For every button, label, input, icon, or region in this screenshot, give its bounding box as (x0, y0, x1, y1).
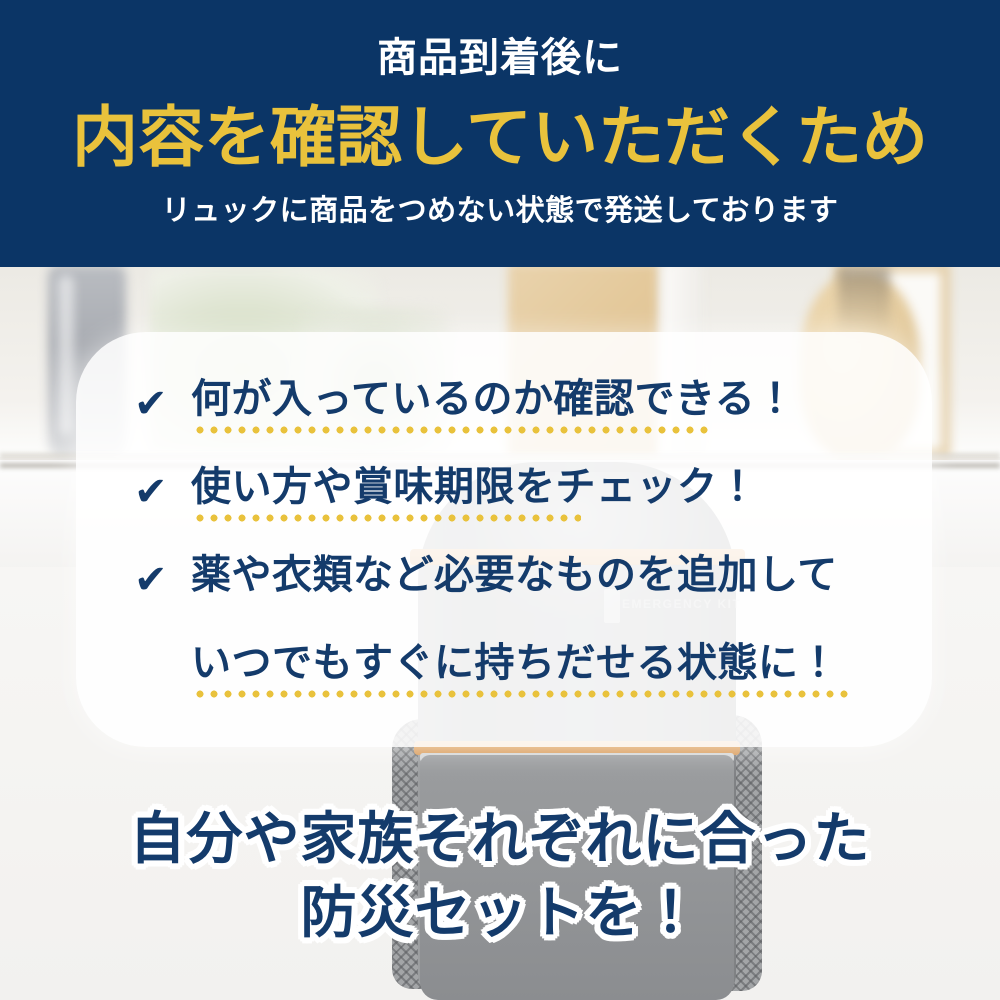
benefit-text-1: 何が入っているのか確認できる！ (191, 374, 796, 424)
header-banner: 商品到着後に 内容を確認していただくため リュックに商品をつめない状態で発送して… (0, 0, 1000, 267)
check-icon: ✔ (134, 384, 168, 424)
benefit-text-3-line-2: いつでもすぐに持ちだせる状態に！ (191, 638, 839, 688)
benefit-text-3-line-1: 薬や衣類など必要なものを追加して (191, 550, 838, 600)
header-subtext: リュックに商品をつめない状態で発送しております (0, 194, 1000, 229)
footer-headline: 自分や家族それぞれに合った 防災セットを！ (0, 802, 1000, 951)
benefit-text-2: 使い方や賞味期限をチェック！ (191, 462, 758, 512)
header-line-1: 商品到着後に (0, 36, 1000, 80)
check-icon: ✔ (134, 560, 168, 600)
check-icon: ✔ (134, 472, 168, 512)
benefits-list: ✔ 何が入っているのか確認できる！ ✔ 使い方や賞味期限をチェック！ ✔ 薬や衣… (76, 332, 932, 747)
header-headline: 内容を確認していただくため (0, 100, 1000, 176)
promo-banner: EMERGENCY KIT 商品到着後に 内容を確認していただくため リュックに… (0, 0, 1000, 1000)
dotted-underline-3 (193, 690, 853, 698)
dotted-underline-1 (193, 426, 709, 434)
footer-line-1: 自分や家族それぞれに合った (0, 802, 1000, 876)
dotted-underline-2 (193, 514, 581, 522)
footer-line-2: 防災セットを！ (0, 876, 1000, 950)
